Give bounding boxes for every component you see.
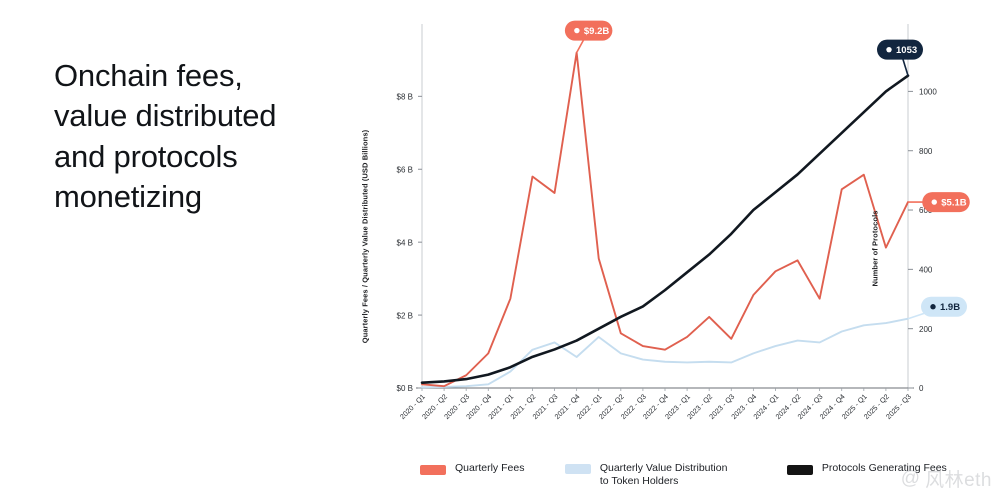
callout-latest-distribution-dot-icon	[930, 304, 935, 309]
legend-item-value-distribution[interactable]: Quarterly Value Distribution to Token Ho…	[565, 462, 787, 489]
legend-label-value-distribution: Quarterly Value Distribution to Token Ho…	[600, 462, 728, 489]
y-axis-left-tick-label: $4 B	[397, 238, 413, 247]
y-axis-left-tick-label: $2 B	[397, 311, 413, 320]
y-axis-right-tick-label: 1000	[919, 88, 937, 97]
callout-protocols-latest-label: 1053	[896, 45, 917, 56]
callout-peak-fees-label: $9.2B	[584, 26, 609, 37]
callout-latest-distribution-label: 1.9B	[940, 302, 960, 313]
y-axis-left-title: Quarterly Fees / Quarterly Value Distrib…	[361, 0, 370, 477]
legend-item-quarterly-fees[interactable]: Quarterly Fees	[420, 462, 565, 475]
series-line-value-distribution	[422, 319, 908, 388]
callout-latest-fees-label: $5.1B	[941, 197, 966, 208]
page-title: Onchain fees, value distributed and prot…	[54, 56, 354, 217]
y-axis-right-tick-label: 800	[919, 147, 933, 156]
legend-label-quarterly-fees: Quarterly Fees	[455, 462, 524, 475]
slide-root: Onchain fees, value distributed and prot…	[0, 0, 1000, 500]
y-axis-left-tick-label: $0 B	[397, 384, 413, 393]
callout-latest-fees: $5.1B	[908, 192, 970, 212]
chart-svg: $0 B$2 B$4 B$6 B$8 B02004006008001000202…	[360, 14, 988, 454]
watermark: @ 风林eth	[901, 465, 992, 492]
callout-latest-fees-dot-icon	[932, 199, 937, 204]
at-sign-icon: @	[901, 468, 920, 490]
legend-swatch-quarterly-fees	[420, 465, 446, 475]
chart-legend: Quarterly Fees Quarterly Value Distribut…	[420, 462, 980, 489]
callout-protocols-latest: 1053	[877, 40, 923, 76]
y-axis-left-tick-label: $8 B	[397, 93, 413, 102]
watermark-text: 风林eth	[925, 465, 992, 492]
chart-card: $0 B$2 B$4 B$6 B$8 B02004006008001000202…	[360, 14, 988, 486]
series-line-quarterly-fees	[422, 53, 908, 387]
legend-swatch-protocols	[787, 465, 813, 475]
callout-latest-distribution: 1.9B	[908, 297, 967, 319]
callout-protocols-latest-dot-icon	[886, 47, 891, 52]
y-axis-right-tick-label: 0	[919, 384, 924, 393]
y-axis-right-tick-label: 400	[919, 266, 933, 275]
y-axis-right-tick-label: 200	[919, 325, 933, 334]
title-block: Onchain fees, value distributed and prot…	[54, 56, 354, 217]
callout-peak-fees-dot-icon	[574, 28, 579, 33]
y-axis-right-title: Number of Protocols	[871, 149, 880, 349]
legend-swatch-value-distribution	[565, 464, 591, 474]
callout-peak-fees: $9.2B	[565, 21, 613, 53]
y-axis-left-tick-label: $6 B	[397, 165, 413, 174]
chart-plot-area: $0 B$2 B$4 B$6 B$8 B02004006008001000202…	[360, 14, 988, 454]
